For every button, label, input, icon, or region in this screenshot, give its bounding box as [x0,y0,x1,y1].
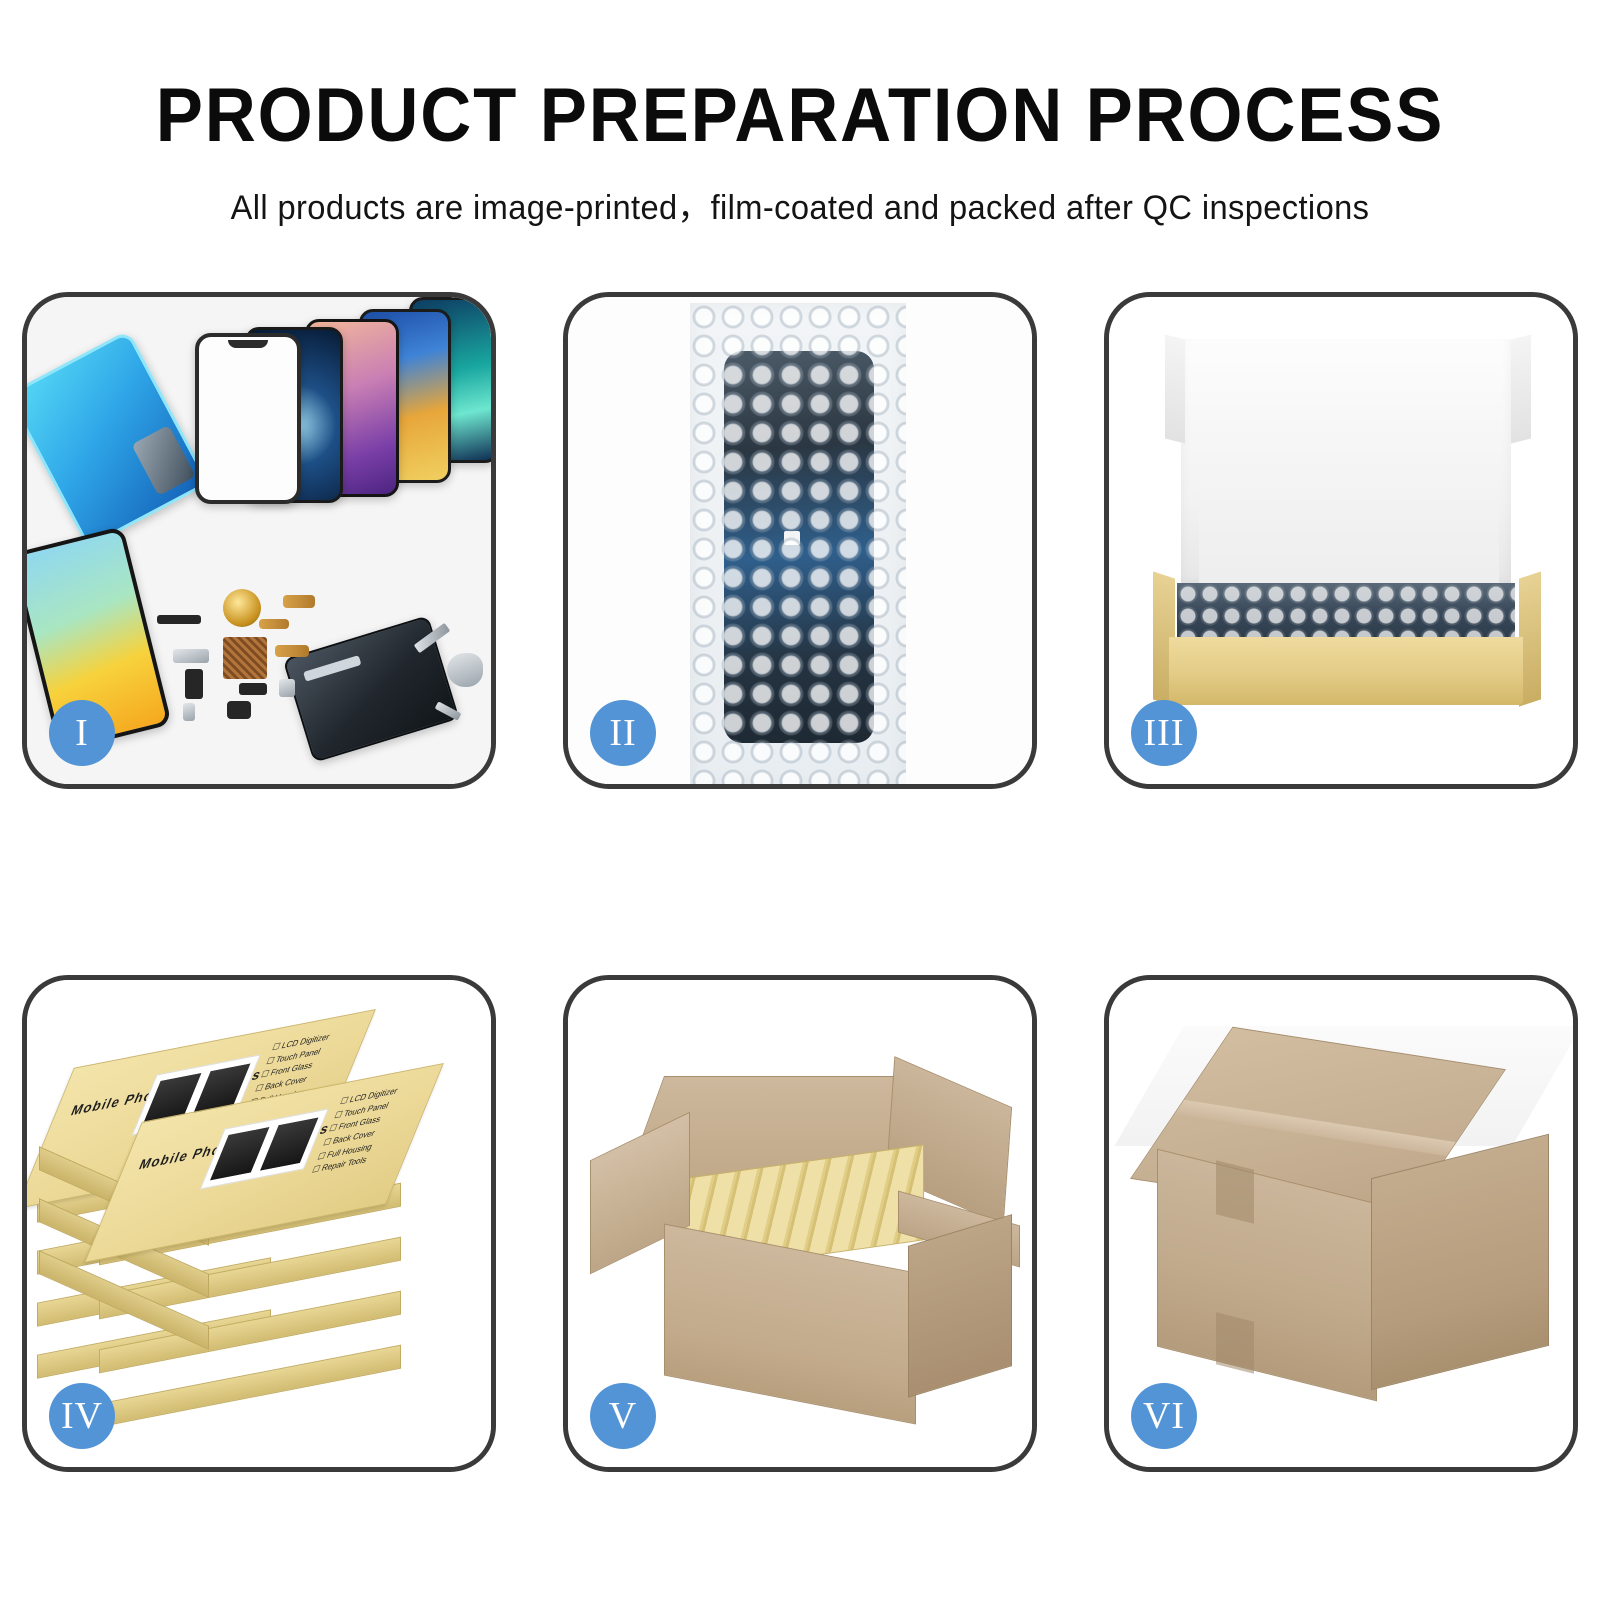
mailer-box-front-panel [1169,637,1523,705]
sealed-carton-right [1371,1134,1549,1390]
step-badge-5: V [590,1383,656,1449]
part-shield-mesh-icon [223,637,267,679]
bubble-wrap-sheet [690,303,906,784]
mailer-box-contents [1177,583,1515,641]
part-brush-icon [447,653,483,687]
part-speaker-box-icon [227,701,251,719]
part-flex-cable-icon [283,595,315,608]
thumbnail-lcd-c [207,1124,272,1183]
step-badge-6: VI [1131,1383,1197,1449]
sealed-carton-tape-front-top [1216,1160,1254,1223]
process-step-grid: I II III [22,292,1578,1472]
step-badge-3: III [1131,700,1197,766]
process-step-panel-5: V [563,975,1037,1472]
mailer-box-lid-tab-right [1511,335,1531,444]
carton-body-front [664,1224,916,1425]
thumbnail-lcd-d [256,1115,321,1174]
part-vibrator-icon [279,679,295,697]
step-badge-2: II [590,700,656,766]
part-taptic-coil-icon [223,589,261,627]
step-badge-4: IV [49,1383,115,1449]
carton-body-right [908,1214,1012,1398]
sealed-carton-tape-seam [1175,1100,1456,1156]
part-flex-cable-2-icon [259,619,289,629]
part-button-flex-icon [185,669,203,699]
process-step-panel-2: II [563,292,1037,789]
part-sim-tray-icon [183,703,195,721]
mailer-box-interior [1199,407,1499,597]
part-camera-module-icon [239,683,267,695]
process-step-panel-4: Mobile Phone Spare Parts LCD Digitizer T… [22,975,496,1472]
process-step-panel-1: I [22,292,496,789]
sealed-carton-tape-front-bottom [1216,1312,1254,1373]
step-badge-1: I [49,700,115,766]
process-step-panel-6: VI [1104,975,1578,1472]
phone-front-glass-icon [195,333,301,504]
page-subtitle: All products are image-printed，film-coat… [32,154,1568,229]
part-speaker-icon [157,615,201,624]
phone-back-cover-blue-icon [27,330,210,548]
bubble-outlines [690,303,906,784]
page-header: PRODUCT PREPARATION PROCESS All products… [0,0,1600,229]
page-title: PRODUCT PREPARATION PROCESS [56,0,1544,154]
contents-bubble-texture [1177,583,1515,641]
part-bracket-icon [173,649,209,663]
process-step-panel-3: III [1104,292,1578,789]
part-ribbon-icon [275,645,309,657]
mailer-box-lid-tab-left [1165,335,1185,444]
